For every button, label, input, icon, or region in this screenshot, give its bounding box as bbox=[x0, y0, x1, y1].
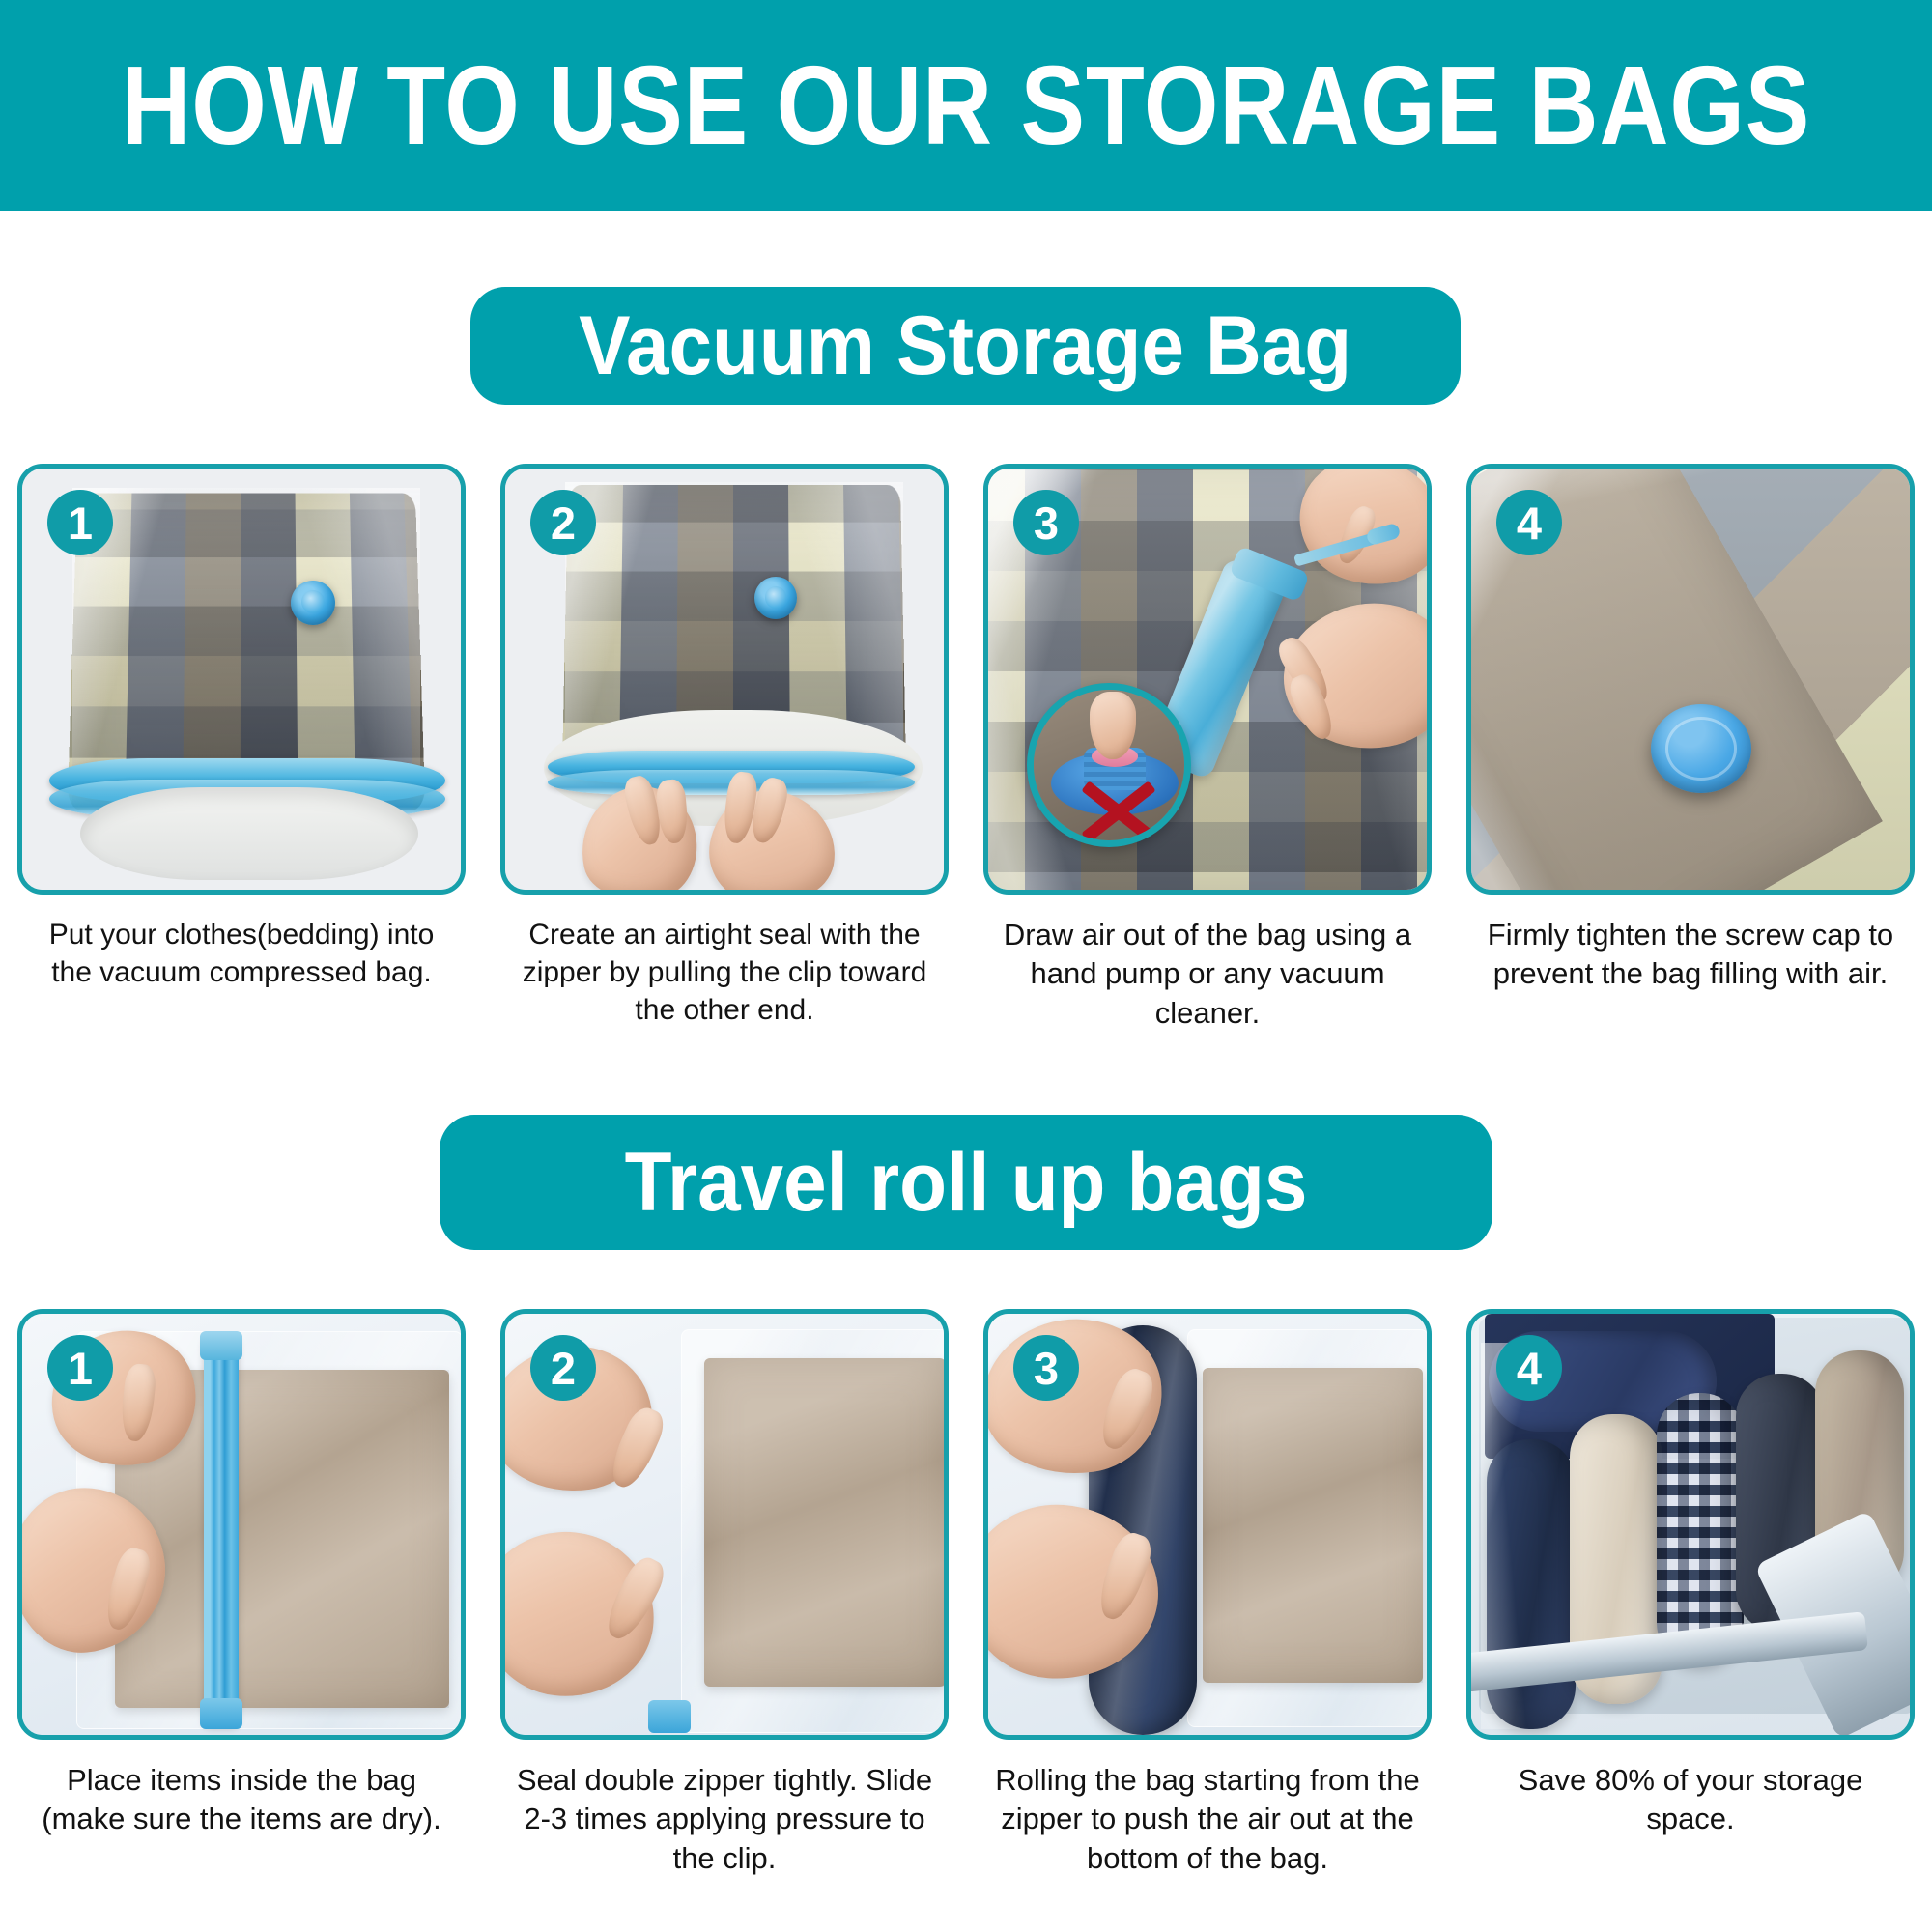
step-card-roll-2: 2 Seal double zipper tightly. Slide 2-3 … bbox=[483, 1309, 966, 1878]
step-image-frame: 1 bbox=[17, 464, 466, 895]
step-number-badge: 2 bbox=[530, 1335, 596, 1401]
step-caption: Draw air out of the bag using a hand pum… bbox=[983, 916, 1432, 1033]
step-image-frame: 4 bbox=[1466, 464, 1915, 895]
step-image-frame: 2 bbox=[500, 464, 949, 895]
step-card-vacuum-4: 4 Firmly tighten the screw cap to preven… bbox=[1449, 464, 1932, 1033]
section-title-travel-roll-up-bags: Travel roll up bags bbox=[440, 1115, 1492, 1250]
step-number-badge: 3 bbox=[1013, 1335, 1079, 1401]
step-image-frame: 2 bbox=[500, 1309, 949, 1740]
header-banner: HOW TO USE OUR STORAGE BAGS bbox=[0, 0, 1932, 211]
infographic-page: HOW TO USE OUR STORAGE BAGS Vacuum Stora… bbox=[0, 0, 1932, 1932]
step-caption: Put your clothes(bedding) into the vacuu… bbox=[17, 916, 466, 991]
step-caption: Place items inside the bag (make sure th… bbox=[17, 1761, 466, 1839]
section-title-vacuum-storage-bag: Vacuum Storage Bag bbox=[470, 287, 1461, 405]
travel-roll-up-steps-row: 1 Place items inside the bag (make sure … bbox=[0, 1309, 1932, 1878]
step-caption: Seal double zipper tightly. Slide 2-3 ti… bbox=[500, 1761, 949, 1878]
step-caption: Save 80% of your storage space. bbox=[1466, 1761, 1915, 1839]
step-card-roll-3: 3 Rolling the bag starting from the zipp… bbox=[966, 1309, 1449, 1878]
step-caption: Create an airtight seal with the zipper … bbox=[500, 916, 949, 1029]
step-number-badge: 4 bbox=[1496, 1335, 1562, 1401]
step-number-badge: 4 bbox=[1496, 490, 1562, 555]
prohibited-x-icon bbox=[1076, 773, 1161, 847]
step-number-badge: 3 bbox=[1013, 490, 1079, 555]
step-number-badge: 1 bbox=[47, 1335, 113, 1401]
step-number-badge: 2 bbox=[530, 490, 596, 555]
step-card-roll-4: 4 Save 80% of your storage space. bbox=[1449, 1309, 1932, 1878]
vacuum-storage-steps-row: 1 Put your clothes(bedding) into the vac… bbox=[0, 464, 1932, 1033]
step-caption: Rolling the bag starting from the zipper… bbox=[983, 1761, 1432, 1878]
step-image-frame: 4 bbox=[1466, 1309, 1915, 1740]
screw-cap-icon bbox=[1651, 704, 1751, 793]
step-image-frame: 3 bbox=[983, 1309, 1432, 1740]
step-caption: Firmly tighten the screw cap to prevent … bbox=[1466, 916, 1915, 994]
step-image-frame: 3 bbox=[983, 464, 1432, 895]
step-card-vacuum-3: 3 Draw air out of the bag using a hand p… bbox=[966, 464, 1449, 1033]
step-image-frame: 1 bbox=[17, 1309, 466, 1740]
double-zipper-strip bbox=[204, 1335, 239, 1725]
step-number-badge: 1 bbox=[47, 490, 113, 555]
warning-inset-circle bbox=[1027, 683, 1191, 847]
step-card-vacuum-1: 1 Put your clothes(bedding) into the vac… bbox=[0, 464, 483, 1033]
step-card-roll-1: 1 Place items inside the bag (make sure … bbox=[0, 1309, 483, 1878]
section-title-label: Travel roll up bags bbox=[625, 1141, 1308, 1224]
page-title: HOW TO USE OUR STORAGE BAGS bbox=[122, 49, 1811, 161]
step-card-vacuum-2: 2 Create an airtight seal with the zippe… bbox=[483, 464, 966, 1033]
section-title-label: Vacuum Storage Bag bbox=[579, 304, 1351, 387]
